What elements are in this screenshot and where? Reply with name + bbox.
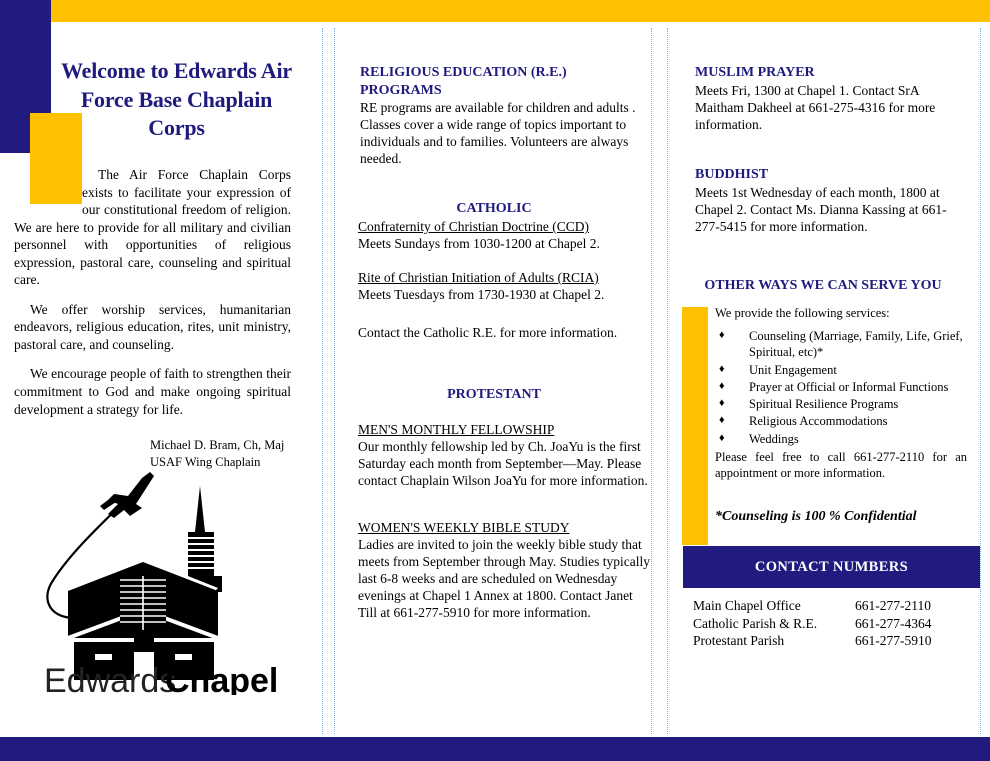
catholic-contact-text: Contact the Catholic R.E. for more infor…	[358, 324, 648, 341]
list-item-label: Unit Engagement	[749, 363, 837, 377]
list-item: ♦ Weddings	[715, 431, 975, 447]
list-item: ♦ Counseling (Marriage, Family, Life, Gr…	[715, 328, 975, 361]
chapel-logo-icon: Edwards Chapel	[38, 470, 286, 695]
list-item-label: Counseling (Marriage, Family, Life, Grie…	[749, 329, 963, 359]
list-item-label: Spiritual Resilience Programs	[749, 397, 898, 411]
list-item: ♦ Religious Accommodations	[715, 413, 975, 429]
list-item: ♦ Prayer at Official or Informal Functio…	[715, 379, 975, 395]
rcia-body: Meets Tuesdays from 1730-1930 at Chapel …	[358, 286, 648, 303]
mens-fellowship-body: Our monthly fellowship led by Ch. JoaYu …	[358, 438, 648, 489]
column-divider-rule-2	[334, 28, 335, 734]
mens-fellowship-block: MEN'S MONTHLY FELLOWSHIP Our monthly fel…	[358, 421, 648, 489]
edwards-chapel-logo: Edwards Chapel	[38, 470, 286, 695]
diamond-bullet-icon: ♦	[719, 413, 725, 427]
intro-text-block: The Air Force Chaplain Corps exists to f…	[14, 166, 291, 430]
column-divider-rule-3	[651, 28, 652, 734]
contact-number: 661-277-5910	[855, 632, 975, 650]
catholic-section-heading-wrap: CATHOLIC	[344, 200, 644, 218]
buddhist-heading: BUDDHIST	[695, 166, 957, 184]
muslim-prayer-section: MUSLIM PRAYER Meets Fri, 1300 at Chapel …	[695, 64, 965, 133]
womens-bible-study-body: Ladies are invited to join the weekly bi…	[358, 536, 650, 621]
appointment-text: Please feel free to call 661-277-2110 fo…	[715, 449, 967, 481]
logo-wordmark-bold: Chapel	[165, 662, 278, 695]
page-title: Welcome to Edwards Air Force Base Chapla…	[54, 57, 299, 143]
buddhist-section: BUDDHIST Meets 1st Wednesday of each mon…	[695, 166, 957, 235]
protestant-section-heading-wrap: PROTESTANT	[344, 386, 644, 404]
gold-block-text-wrap-spacer	[14, 166, 82, 206]
muslim-prayer-heading: MUSLIM PRAYER	[695, 64, 965, 82]
column-divider-rule-1	[322, 28, 323, 734]
other-ways-heading: OTHER WAYS WE CAN SERVE YOU	[675, 277, 971, 295]
top-gold-bar	[51, 0, 990, 22]
signature-title: USAF Wing Chaplain	[150, 454, 300, 471]
contact-numbers-table: Main Chapel Office 661-277-2110 Catholic…	[693, 597, 983, 650]
diamond-bullet-icon: ♦	[719, 328, 725, 342]
column-divider-rule-4	[667, 28, 668, 734]
list-item-label: Prayer at Official or Informal Functions	[749, 380, 948, 394]
muslim-prayer-body: Meets Fri, 1300 at Chapel 1. Contact SrA…	[695, 82, 965, 133]
catholic-contact-block: Contact the Catholic R.E. for more infor…	[358, 324, 648, 341]
list-item: ♦ Unit Engagement	[715, 362, 975, 378]
ccd-title: Confraternity of Christian Doctrine (CCD…	[358, 218, 648, 235]
list-item-label: Religious Accommodations	[749, 414, 888, 428]
womens-bible-study-block: WOMEN'S WEEKLY BIBLE STUDY Ladies are in…	[358, 519, 650, 621]
table-row: Main Chapel Office 661-277-2110	[693, 597, 983, 615]
diamond-bullet-icon: ♦	[719, 431, 725, 445]
list-item-label: Weddings	[749, 432, 799, 446]
contact-number: 661-277-2110	[855, 597, 975, 615]
protestant-heading: PROTESTANT	[344, 386, 644, 404]
intro-paragraph-3: We encourage people of faith to strength…	[14, 365, 291, 418]
contact-label: Catholic Parish & R.E.	[693, 615, 855, 633]
mens-fellowship-title: MEN'S MONTHLY FELLOWSHIP	[358, 421, 648, 438]
religious-education-heading: RELIGIOUS EDUCATION (R.E.) PROGRAMS	[360, 64, 642, 99]
table-row: Protestant Parish 661-277-5910	[693, 632, 983, 650]
logo-wordmark-light: Edwards	[44, 662, 176, 695]
right-gold-accent-bar	[682, 307, 708, 545]
list-item: ♦ Spiritual Resilience Programs	[715, 396, 975, 412]
diamond-bullet-icon: ♦	[719, 362, 725, 376]
religious-education-body: RE programs are available for children a…	[360, 99, 642, 167]
contact-numbers-heading: CONTACT NUMBERS	[683, 546, 980, 588]
catholic-heading: CATHOLIC	[344, 200, 644, 218]
signature-name: Michael D. Bram, Ch, Maj	[150, 437, 300, 454]
contact-label: Main Chapel Office	[693, 597, 855, 615]
services-list: ♦ Counseling (Marriage, Family, Life, Gr…	[715, 328, 975, 448]
bottom-navy-bar	[0, 737, 990, 761]
signature-block: Michael D. Bram, Ch, Maj USAF Wing Chapl…	[150, 437, 300, 470]
womens-bible-study-title: WOMEN'S WEEKLY BIBLE STUDY	[358, 519, 650, 536]
contact-number: 661-277-4364	[855, 615, 975, 633]
rcia-title: Rite of Christian Initiation of Adults (…	[358, 269, 648, 286]
religious-education-section: RELIGIOUS EDUCATION (R.E.) PROGRAMS RE p…	[360, 64, 642, 167]
diamond-bullet-icon: ♦	[719, 396, 725, 410]
services-lead-text: We provide the following services:	[715, 305, 971, 321]
diamond-bullet-icon: ♦	[719, 379, 725, 393]
rcia-block: Rite of Christian Initiation of Adults (…	[358, 269, 648, 303]
intro-paragraph-2: We offer worship services, humanitarian …	[14, 301, 291, 354]
confidential-note: *Counseling is 100 % Confidential	[715, 509, 981, 526]
ccd-block: Confraternity of Christian Doctrine (CCD…	[358, 218, 648, 252]
contact-label: Protestant Parish	[693, 632, 855, 650]
buddhist-body: Meets 1st Wednesday of each month, 1800 …	[695, 184, 957, 235]
other-ways-heading-wrap: OTHER WAYS WE CAN SERVE YOU	[675, 277, 971, 295]
table-row: Catholic Parish & R.E. 661-277-4364	[693, 615, 983, 633]
ccd-body: Meets Sundays from 1030-1200 at Chapel 2…	[358, 235, 648, 252]
